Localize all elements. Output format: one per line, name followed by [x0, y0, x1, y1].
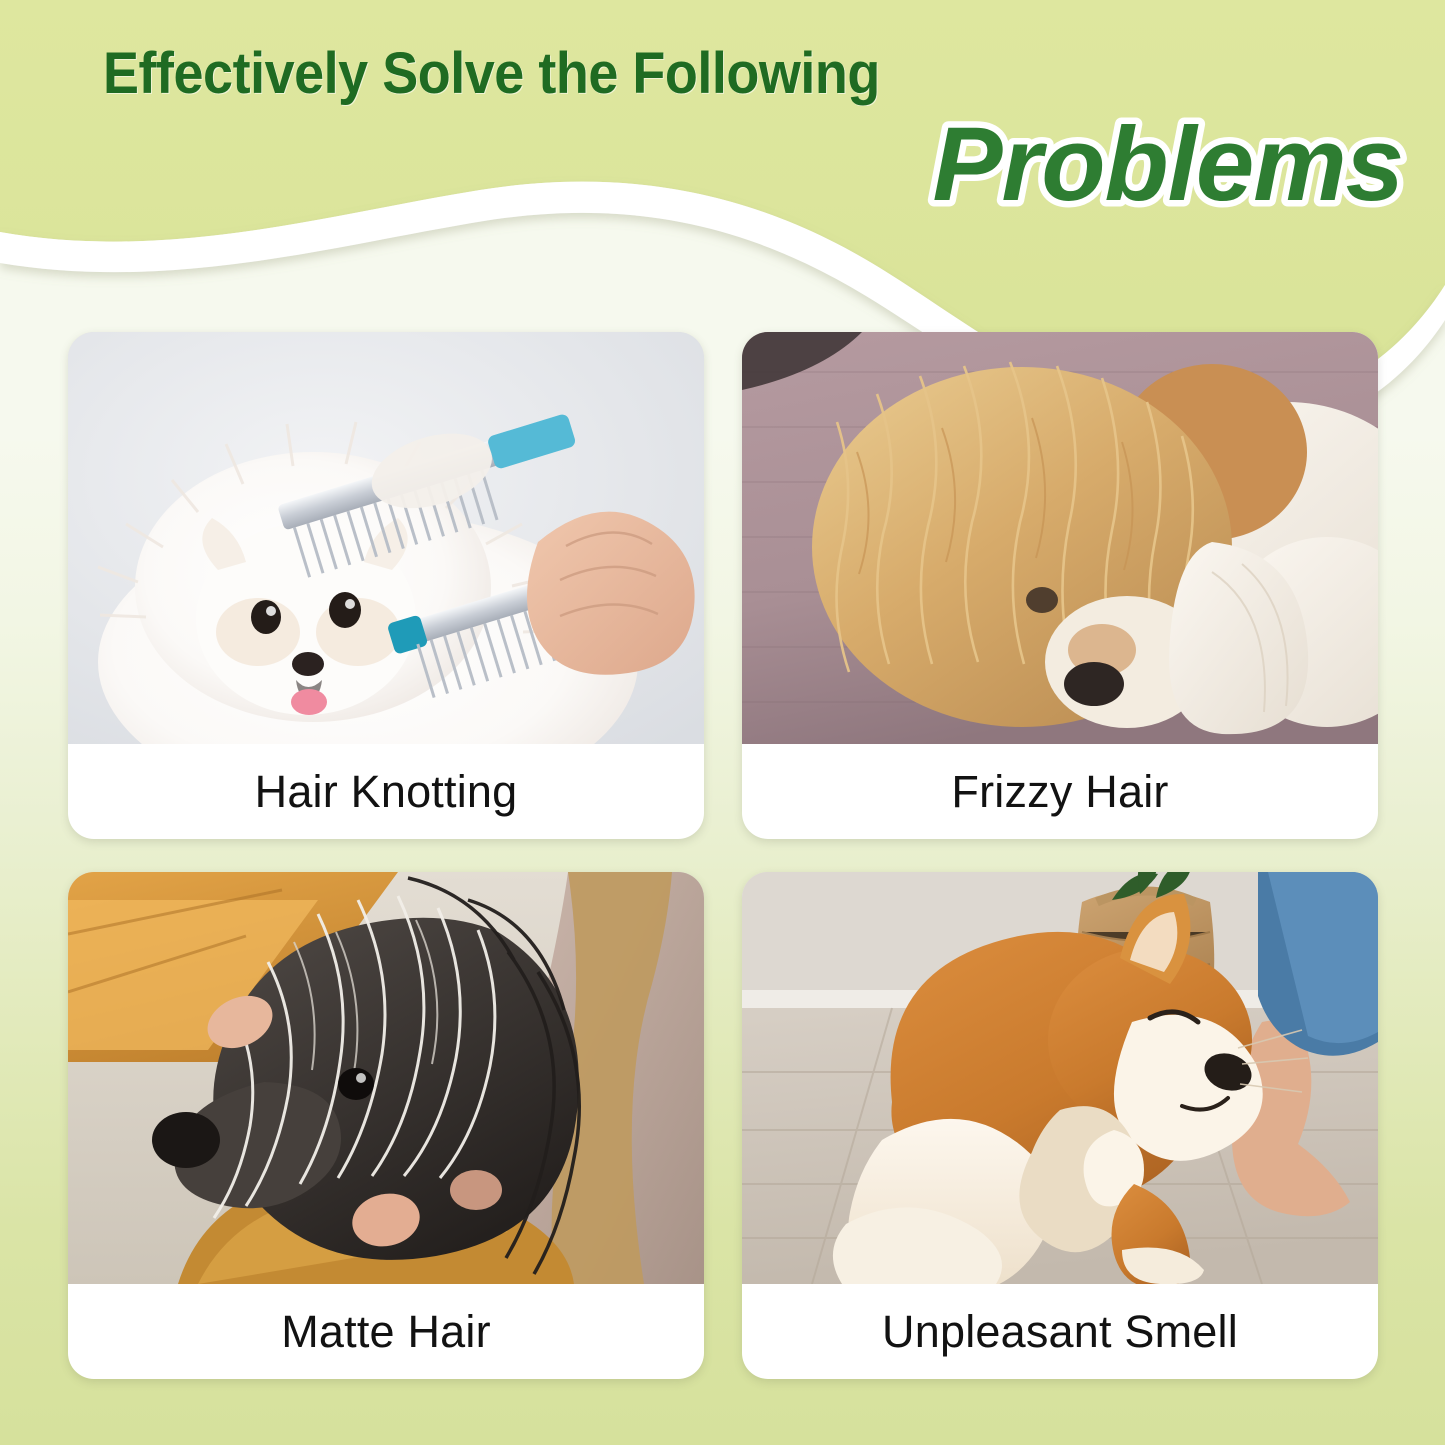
card-label-frizzy-hair: Frizzy Hair	[742, 744, 1378, 839]
problem-card-matte-hair[interactable]: Matte Hair	[68, 872, 704, 1379]
problem-card-unpleasant-smell[interactable]: Unpleasant Smell	[742, 872, 1378, 1379]
problem-card-frizzy-hair[interactable]: Frizzy Hair	[742, 332, 1378, 839]
card-label-matte-hair: Matte Hair	[68, 1284, 704, 1379]
photo-matte-hair	[68, 872, 704, 1284]
problem-card-hair-knotting[interactable]: Hair Knotting	[68, 332, 704, 839]
svg-text:Problems: Problems	[933, 106, 1404, 222]
problems-wordmark: Problems Problems	[769, 104, 1409, 222]
problem-card-grid: Hair Knotting	[68, 332, 1378, 1379]
photo-frizzy-hair	[742, 332, 1378, 744]
card-label-hair-knotting: Hair Knotting	[68, 744, 704, 839]
card-label-unpleasant-smell: Unpleasant Smell	[742, 1284, 1378, 1379]
problems-poster: Effectively Solve the Following Problems…	[0, 0, 1445, 1445]
page-title: Effectively Solve the Following	[103, 44, 880, 105]
photo-unpleasant-smell	[742, 872, 1378, 1284]
photo-hair-knotting	[68, 332, 704, 744]
